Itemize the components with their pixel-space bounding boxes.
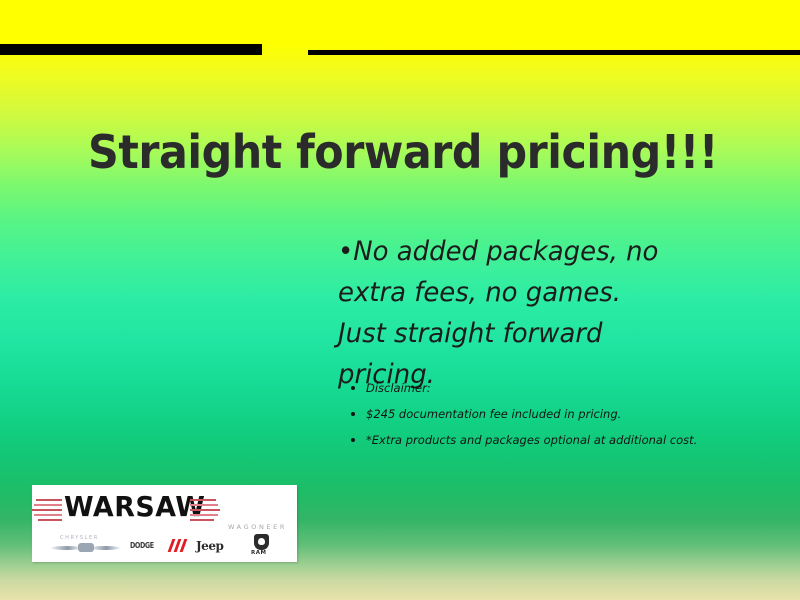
disclaimer-text: *Extra products and packages optional at… xyxy=(366,433,697,447)
disclaimer-list: Disclaimer: $245 documentation fee inclu… xyxy=(348,381,748,459)
jeep-logo-icon: Jeep xyxy=(196,533,240,557)
header-rule-thick xyxy=(0,44,262,55)
presentation-slide: Straight forward pricing!!! •No added pa… xyxy=(0,0,800,600)
header-rule-thin xyxy=(308,50,800,55)
bullet-icon xyxy=(351,412,355,416)
brand-logo-strip: CHRYSLER DODGE Jeep RAM xyxy=(44,533,288,557)
dealer-name: WARSAW xyxy=(64,492,205,522)
wagoneer-wordmark: WAGONEER xyxy=(228,523,287,531)
ram-label: RAM xyxy=(251,550,266,556)
dodge-logo-icon: DODGE xyxy=(130,533,192,557)
dodge-label: DODGE xyxy=(130,541,154,550)
list-item: *Extra products and packages optional at… xyxy=(348,433,748,447)
jeep-label: Jeep xyxy=(196,539,223,553)
list-item: $245 documentation fee included in prici… xyxy=(348,407,748,421)
disclaimer-text: $245 documentation fee included in prici… xyxy=(366,407,621,421)
slide-title: Straight forward pricing!!! xyxy=(88,124,702,180)
bullet-icon xyxy=(351,438,355,442)
dealer-wordmark: WARSAW xyxy=(32,491,222,525)
list-item: Disclaimer: xyxy=(348,381,748,395)
slide-lead-text: •No added packages, no extra fees, no ga… xyxy=(338,231,672,395)
chrysler-label: CHRYSLER xyxy=(60,535,99,541)
bullet-icon xyxy=(351,386,355,390)
ram-logo-icon: RAM xyxy=(248,533,282,557)
chrysler-logo-icon: CHRYSLER xyxy=(50,533,122,557)
disclaimer-text: Disclaimer: xyxy=(366,381,431,395)
dealer-logo-card: WARSAW WAGONEER CHRYSLER DODGE J xyxy=(32,485,297,562)
